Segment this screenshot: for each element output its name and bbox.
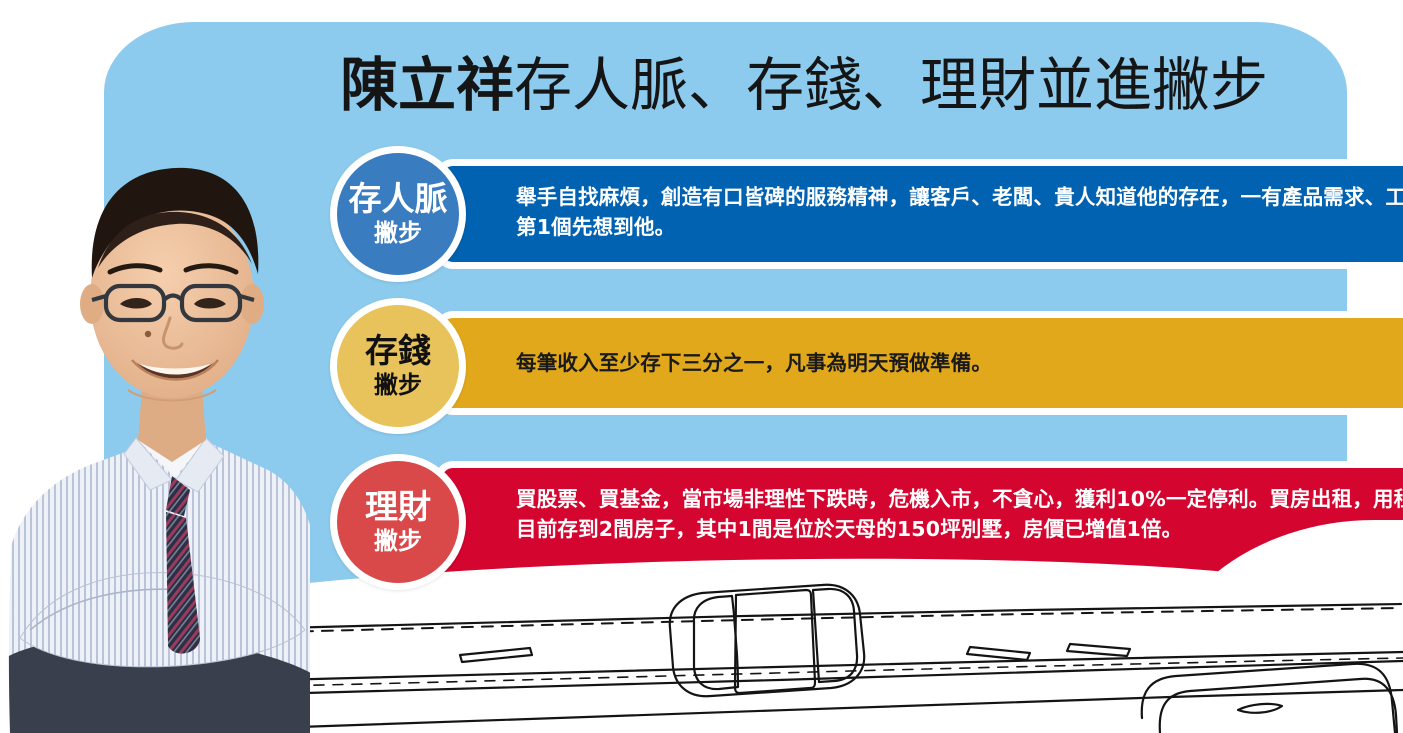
tip-badge-contacts[interactable]: 存人脈 撇步 [330,146,466,282]
title-person-name: 陳立祥 [340,51,514,119]
portrait-photo [0,118,310,733]
tip-badge-title-saving: 存錢 [365,333,431,369]
tip-badge-sub-saving: 撇步 [374,371,422,399]
tip-badge-title-investing: 理財 [365,489,431,525]
tip-badge-sub-investing: 撇步 [374,527,422,555]
tip-body-saving: 每筆收入至少存下三分之一，凡事為明天預做準備。 [516,348,992,378]
tip-textbox-saving: 每筆收入至少存下三分之一，凡事為明天預做準備。 [435,311,1403,415]
tip-textbox-contacts: 舉手自找麻煩，創造有口皆碑的服務精神，讓客戶、老闆、貴人知道他的存在，一有產品需… [435,159,1403,269]
title-rest: 存人脈、存錢、理財並進撇步 [514,51,1268,119]
road-line-art [270,560,1403,733]
tip-body-contacts: 舉手自找麻煩，創造有口皆碑的服務精神，讓客戶、老闆、貴人知道他的存在，一有產品需… [516,182,1403,242]
infographic-canvas: 陳立祥存人脈、存錢、理財並進撇步 舉手自找麻煩，創造有口皆碑的服務精神，讓客戶、… [0,0,1403,733]
tip-badge-sub-contacts: 撇步 [374,219,422,247]
page-title: 陳立祥存人脈、存錢、理財並進撇步 [340,48,1260,122]
tip-badge-saving[interactable]: 存錢 撇步 [330,298,466,434]
tip-body-investing: 買股票、買基金，當市場非理性下跌時，危機入市，不貪心，獲利10%一定停利。買房出… [516,484,1403,544]
tip-badge-title-contacts: 存人脈 [349,181,448,217]
